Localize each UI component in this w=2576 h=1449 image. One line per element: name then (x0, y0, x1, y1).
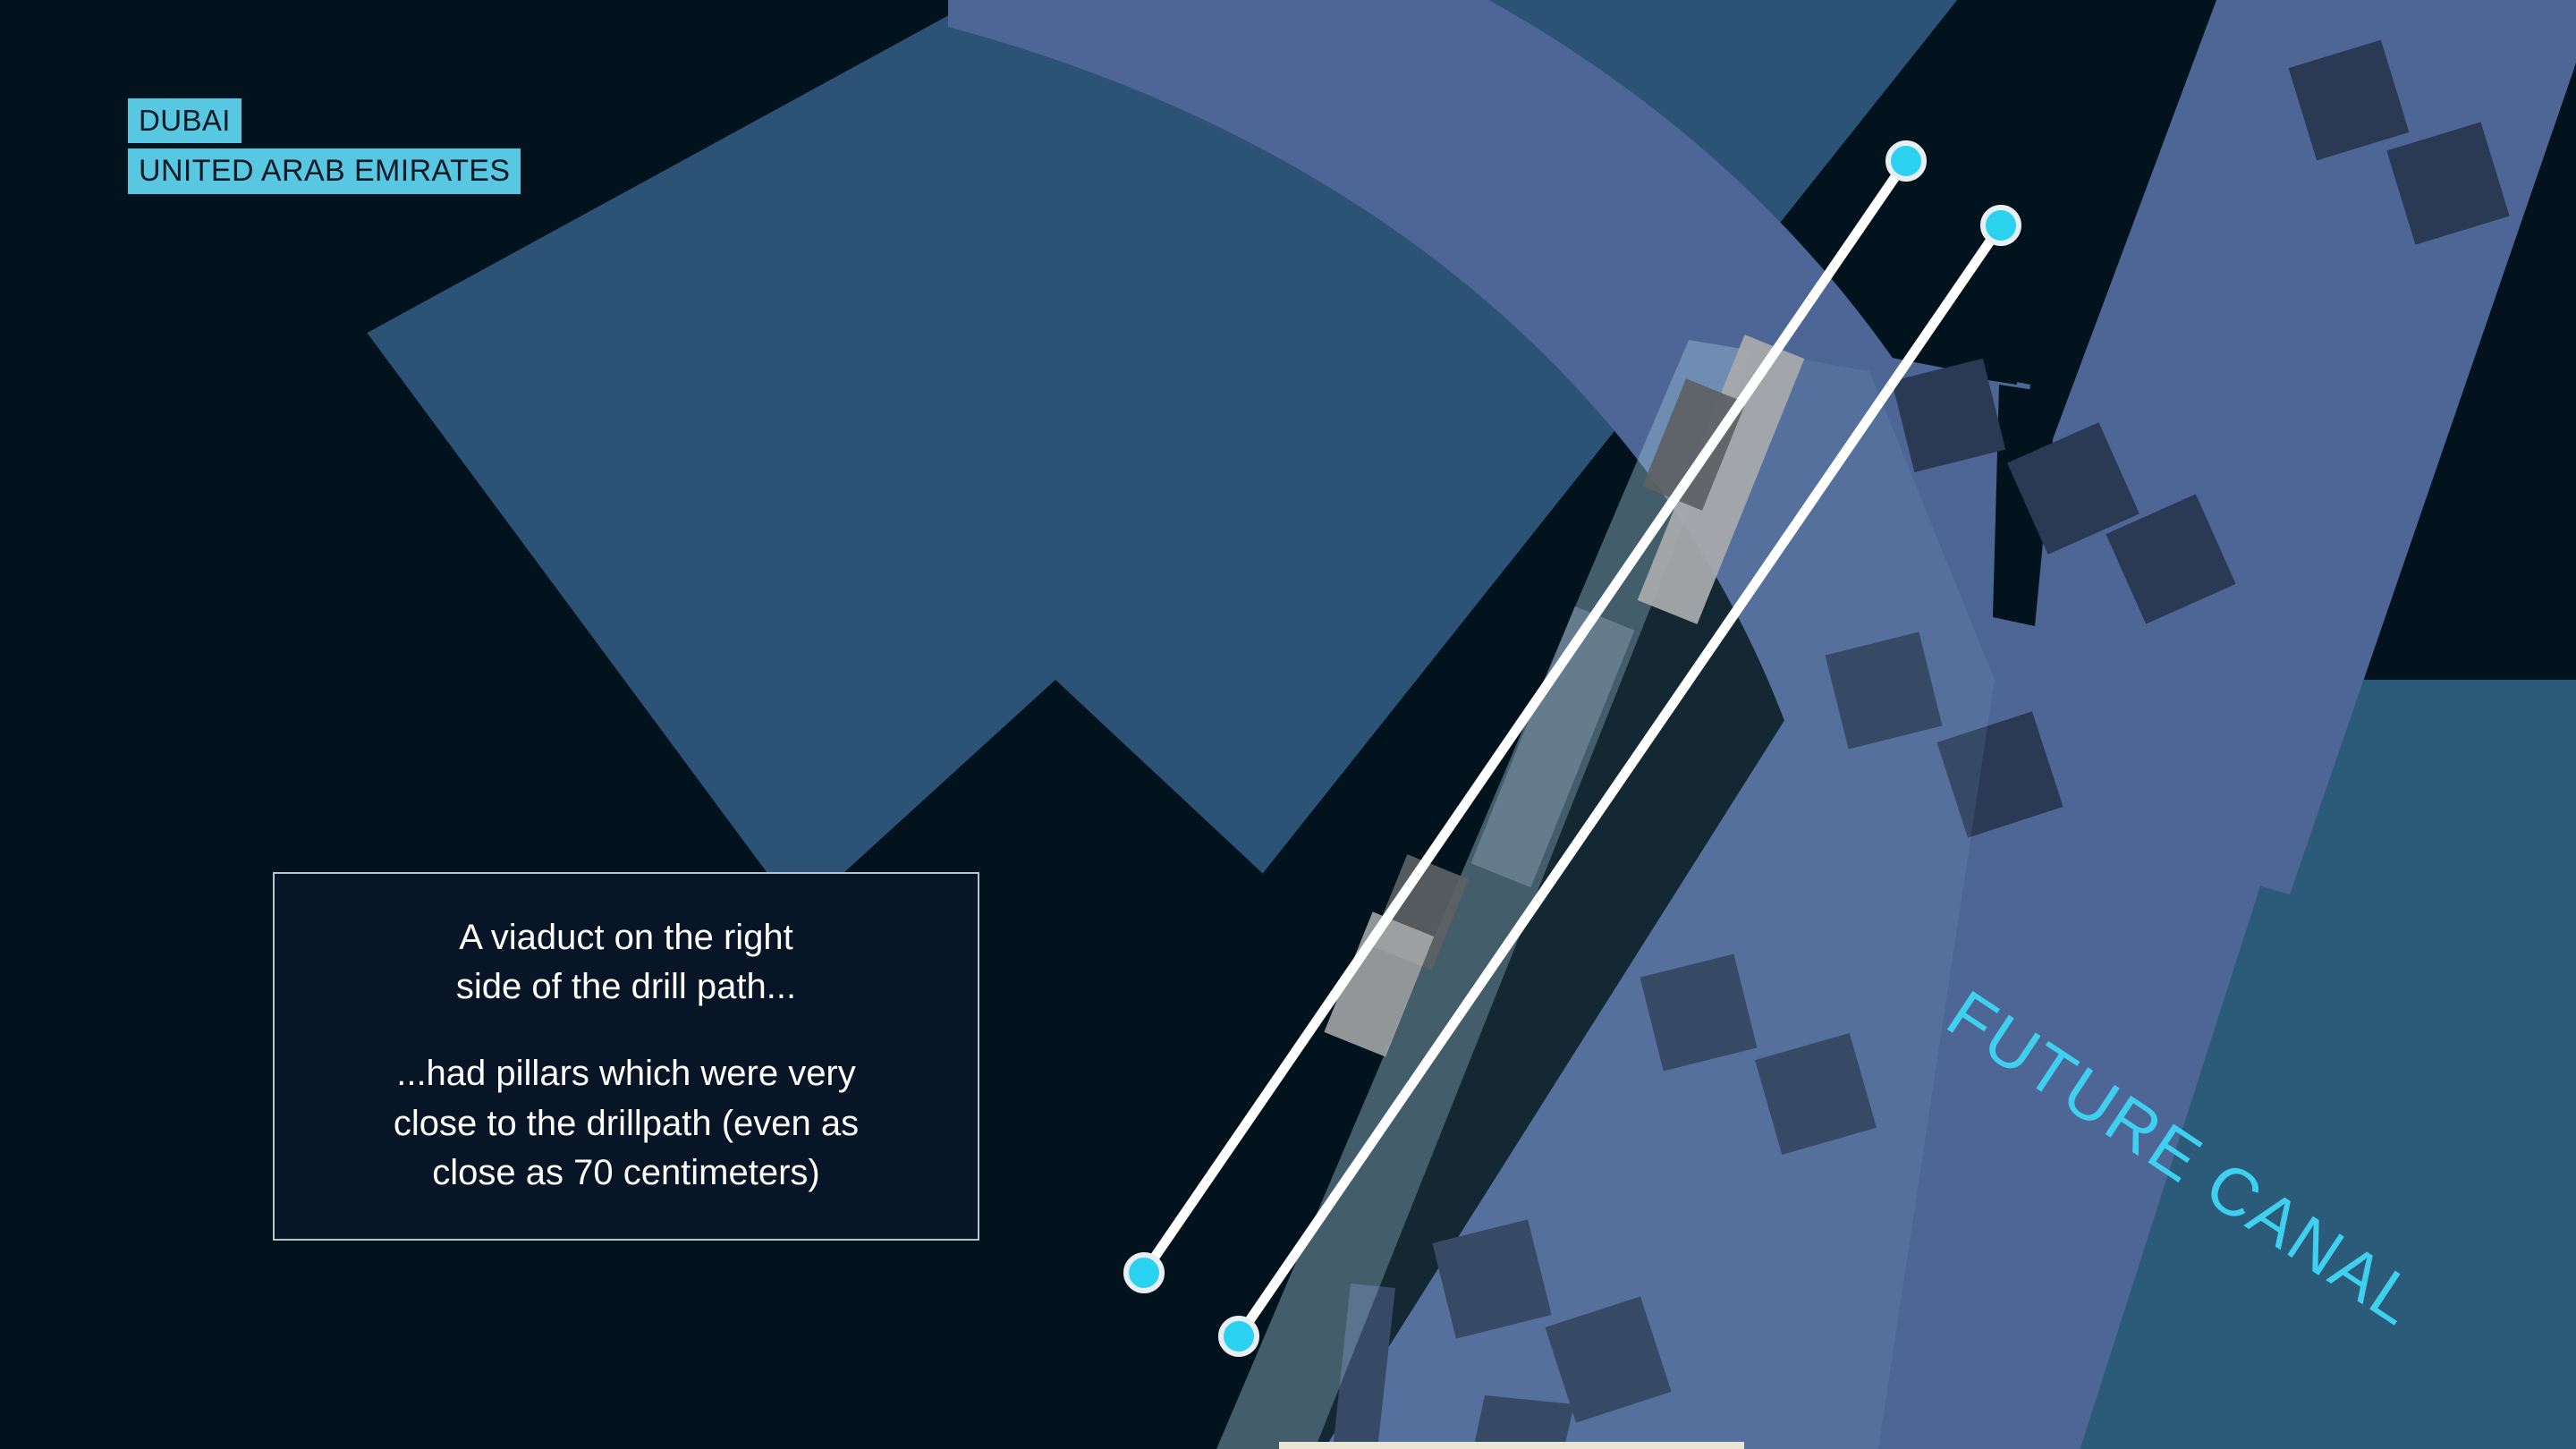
drillpath-marker-entry-right[interactable] (1221, 1318, 1257, 1354)
caption-box: A viaduct on the right side of the drill… (273, 872, 979, 1241)
drillpath-marker-exit-right[interactable] (1983, 208, 2019, 243)
place-label-group: DUBAI UNITED ARAB EMIRATES (128, 98, 521, 194)
map-scene: DUBAI UNITED ARAB EMIRATES A viaduct on … (0, 0, 2576, 1449)
drillpath-marker-entry-left[interactable] (1126, 1255, 1162, 1291)
caption-line-4: close to the drillpath (even as (310, 1099, 942, 1148)
place-label-city: DUBAI (128, 98, 241, 143)
caption-spacer (310, 1012, 942, 1049)
drillpath-marker-exit-left[interactable] (1888, 143, 1924, 179)
caption-line-5: close as 70 centimeters) (310, 1148, 942, 1198)
caption-line-3: ...had pillars which were very (310, 1049, 942, 1098)
place-label-country: UNITED ARAB EMIRATES (128, 148, 521, 194)
bottom-edge-strip (1279, 1442, 1744, 1449)
caption-line-1: A viaduct on the right (310, 913, 942, 962)
caption-line-2: side of the drill path... (310, 962, 942, 1012)
